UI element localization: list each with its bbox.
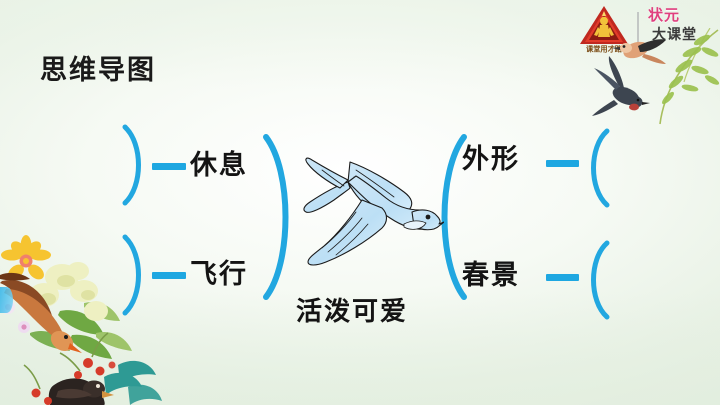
swallow-bird-illustration [292, 142, 444, 294]
brand-wordmark: 状元 大课堂 [646, 7, 708, 51]
mindmap-node-fly: 飞行 [190, 261, 248, 288]
mindmap-node-shape: 外形 [462, 146, 520, 173]
connector-dash-shape [546, 160, 579, 167]
brand-wordmark-bottom: 大课堂 [652, 27, 697, 41]
slide-canvas: 思维导图 休息 飞行 外形 春景 活泼可爱 [0, 0, 720, 405]
connector-dash-fly [152, 272, 186, 279]
blue-accent-sliver [0, 287, 13, 313]
logo-divider [637, 12, 639, 46]
bracket-left-bottom [118, 234, 152, 316]
red-triangle-school-logo-icon: 课堂用才路 [578, 4, 630, 54]
page-title: 思维导图 [40, 57, 156, 84]
brand-wordmark-top: 状元 [648, 8, 680, 23]
connector-dash-spring [546, 274, 579, 281]
connector-dash-rest [152, 163, 186, 170]
branding-bar: 课堂用才路 状元 大课堂 [578, 4, 708, 54]
mindmap-node-rest: 休息 [190, 152, 248, 179]
logo-mark-text: 课堂用才路 [586, 45, 623, 54]
bracket-right-bottom [580, 240, 614, 320]
bracket-right-top [580, 128, 614, 208]
bracket-left-top [118, 124, 152, 206]
mindmap-center-label: 活泼可爱 [296, 298, 408, 324]
mindmap-node-spring: 春景 [462, 262, 520, 289]
